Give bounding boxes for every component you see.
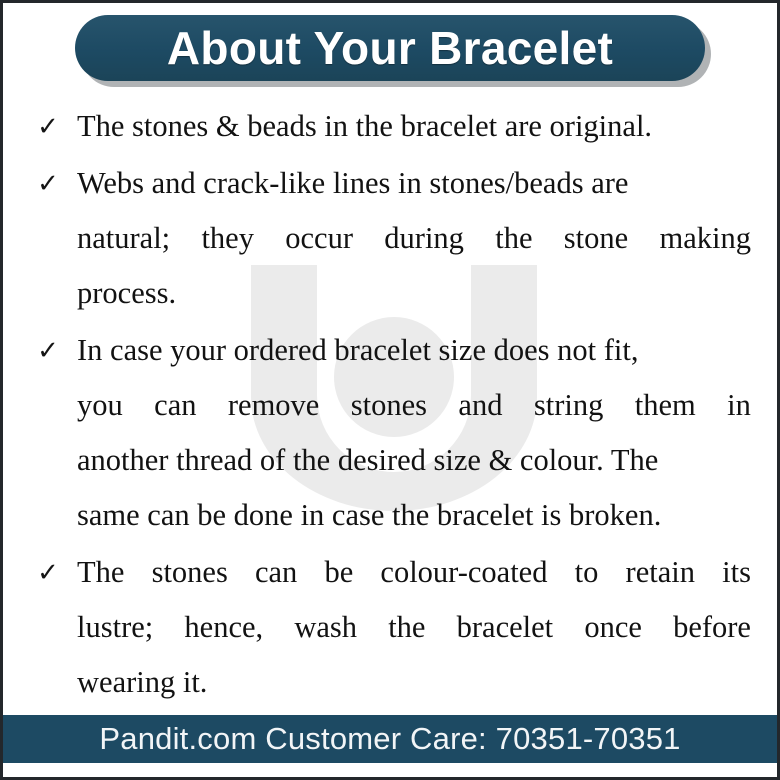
- word: stones: [152, 545, 228, 600]
- text-line: process.: [77, 266, 751, 321]
- word: making: [659, 211, 751, 266]
- notice-card: About Your Bracelet ✓ The stones & beads…: [0, 0, 780, 780]
- text-line: another thread of the desired size & col…: [77, 433, 751, 488]
- word: natural;: [77, 211, 170, 266]
- list-item: ✓ The stones & beads in the bracelet are…: [19, 99, 751, 154]
- word: remove: [228, 378, 319, 433]
- word: the: [388, 600, 425, 655]
- list-item: ✓ Webs and crack-like lines in stones/be…: [19, 156, 751, 321]
- text-line: wearing it.: [77, 655, 751, 710]
- word: string: [534, 378, 603, 433]
- check-icon: ✓: [19, 156, 77, 211]
- word: retain: [626, 545, 695, 600]
- text-line: same can be done in case the bracelet is…: [77, 488, 751, 543]
- word: to: [575, 545, 599, 600]
- word: its: [722, 545, 751, 600]
- word: you: [77, 378, 123, 433]
- text-line: natural; they occur during the stone mak…: [77, 211, 751, 266]
- word: once: [584, 600, 642, 655]
- check-icon: ✓: [19, 545, 77, 600]
- text-line: In case your ordered bracelet size does …: [77, 323, 751, 378]
- text-line: Webs and crack-like lines in stones/bead…: [77, 156, 751, 211]
- header: About Your Bracelet: [3, 3, 777, 95]
- check-icon: ✓: [19, 323, 77, 378]
- word: occur: [285, 211, 353, 266]
- word: can: [154, 378, 196, 433]
- word: can: [255, 545, 297, 600]
- list-item-text: In case your ordered bracelet size does …: [77, 323, 751, 543]
- text-line: The stones & beads in the bracelet are o…: [77, 99, 751, 154]
- page-title: About Your Bracelet: [167, 25, 613, 71]
- list-item-text: The stones can be colour-coated to retai…: [77, 545, 751, 710]
- word: and: [458, 378, 502, 433]
- word: be: [324, 545, 353, 600]
- word: bracelet: [457, 600, 554, 655]
- footer-bar: Pandit.com Customer Care: 70351-70351: [3, 715, 777, 763]
- word: The: [77, 545, 124, 600]
- check-icon: ✓: [19, 99, 77, 154]
- list-item-text: The stones & beads in the bracelet are o…: [77, 99, 751, 154]
- word: them: [635, 378, 696, 433]
- list-item: ✓ In case your ordered bracelet size doe…: [19, 323, 751, 543]
- text-line: The stones can be colour-coated to retai…: [77, 545, 751, 600]
- word: before: [673, 600, 751, 655]
- word: stones: [351, 378, 427, 433]
- word: they: [201, 211, 254, 266]
- word: stone: [564, 211, 628, 266]
- word: lustre;: [77, 600, 153, 655]
- title-pill-wrapper: About Your Bracelet: [75, 15, 705, 83]
- word: hence,: [184, 600, 263, 655]
- list-item: ✓ The stones can be colour-coated to ret…: [19, 545, 751, 710]
- bullet-list: ✓ The stones & beads in the bracelet are…: [3, 95, 777, 710]
- title-pill: About Your Bracelet: [75, 15, 705, 81]
- list-item-text: Webs and crack-like lines in stones/bead…: [77, 156, 751, 321]
- word: colour-coated: [380, 545, 547, 600]
- word: the: [495, 211, 532, 266]
- text-line: you can remove stones and string them in: [77, 378, 751, 433]
- word: wash: [294, 600, 357, 655]
- text-line: lustre; hence, wash the bracelet once be…: [77, 600, 751, 655]
- word: during: [384, 211, 464, 266]
- customer-care-text: Pandit.com Customer Care: 70351-70351: [99, 721, 680, 757]
- word: in: [727, 378, 751, 433]
